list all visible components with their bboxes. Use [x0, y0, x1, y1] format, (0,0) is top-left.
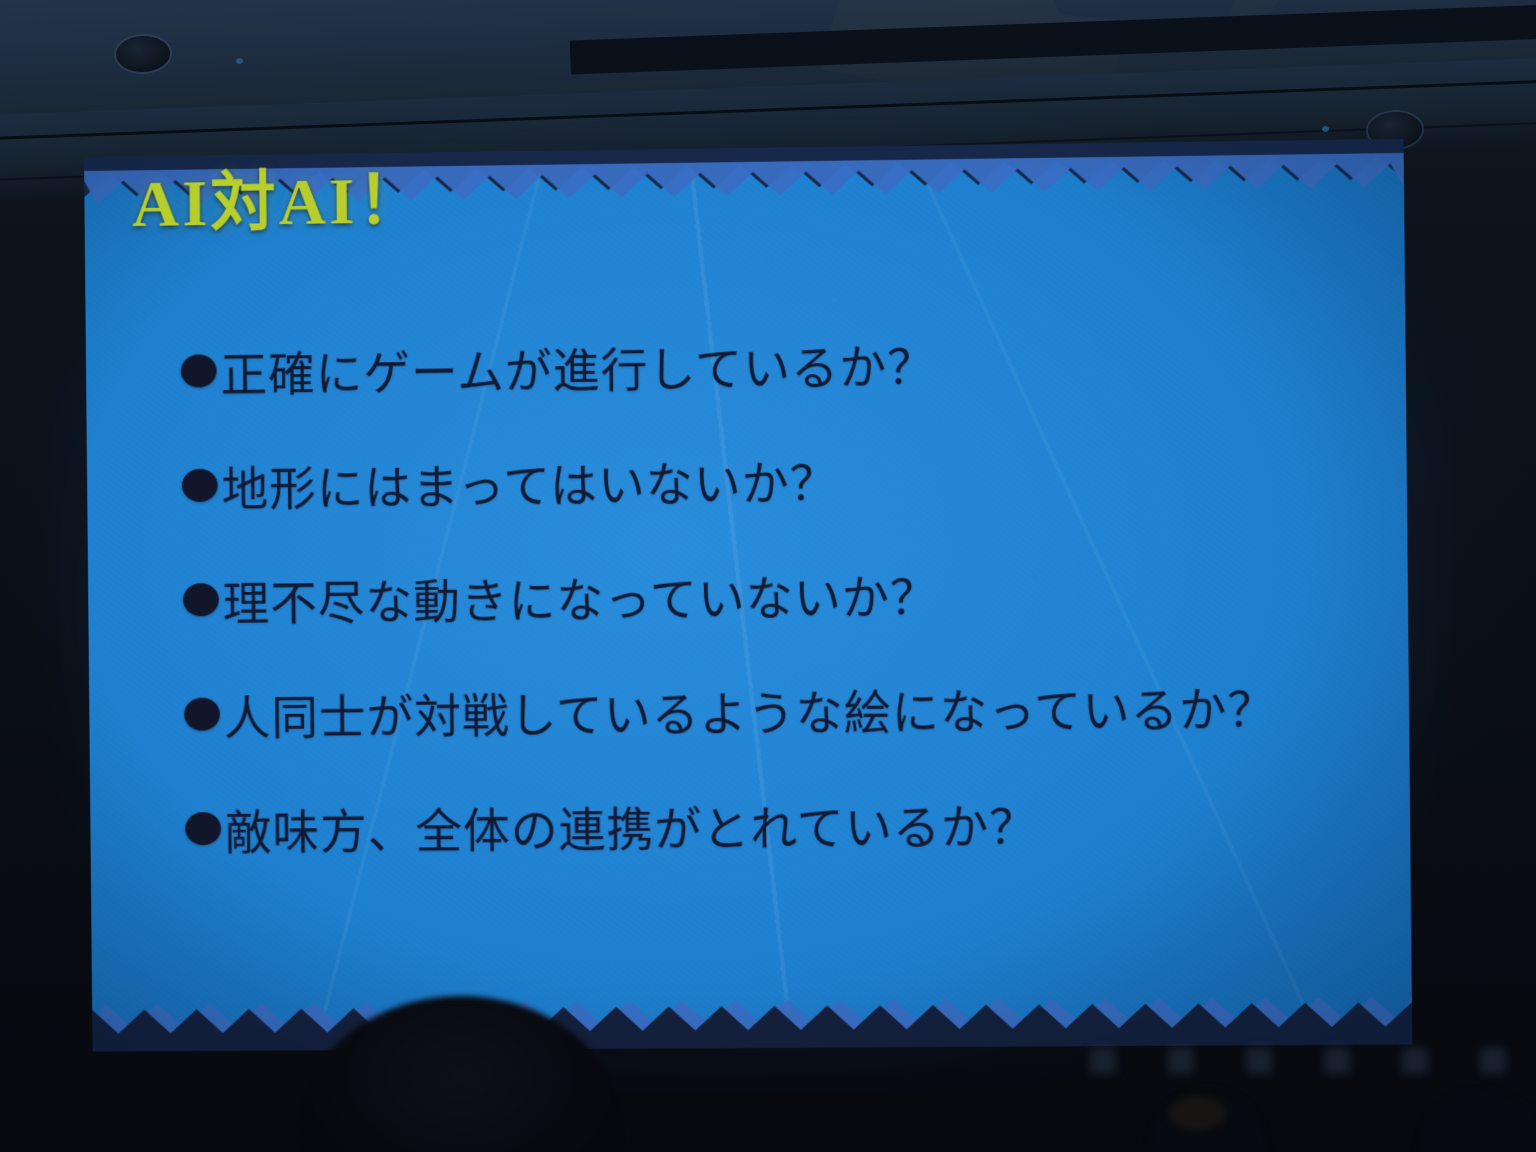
list-item: 理不尽な動きになっていないか？: [183, 554, 1368, 634]
list-item-label: 地形にはまってはいないか？: [221, 444, 838, 519]
ceiling-sensor-dot-icon: [1322, 126, 1329, 132]
list-item-label: 正確にゲームが進行しているか？: [220, 328, 935, 405]
bullet-dot-icon: [181, 354, 217, 387]
slide-canvas: AI対AI！ 正確にゲームが進行しているか？ 地形にはまってはいないか？ 理不尽…: [84, 139, 1412, 1052]
list-item-label: 理不尽な動きになっていないか？: [222, 558, 938, 634]
list-item-label: 人同士が対戦しているような絵になっているか？: [223, 670, 1276, 748]
audience-head-highlight: [1168, 1096, 1226, 1130]
bullet-dot-icon: [185, 812, 221, 845]
photo-frame: AI対AI！ 正確にゲームが進行しているか？ 地形にはまってはいないか？ 理不尽…: [0, 0, 1536, 1152]
ceiling-sensor-dot-icon: [236, 58, 243, 64]
background-light-streaks: [1090, 1048, 1530, 1074]
bullet-dot-icon: [182, 469, 218, 502]
projected-slide: AI対AI！ 正確にゲームが進行しているか？ 地形にはまってはいないか？ 理不尽…: [84, 139, 1412, 1052]
list-item-label: 敵味方、全体の連携がとれているか？: [225, 788, 1038, 863]
list-item: 敵味方、全体の連携がとれているか？: [185, 785, 1370, 863]
slide-title: AI対AI！: [131, 146, 426, 246]
list-item: 人同士が対戦しているような絵になっているか？: [184, 669, 1369, 748]
list-item: 地形にはまってはいないか？: [182, 438, 1367, 520]
list-item: 正確にゲームが進行しているか？: [181, 322, 1366, 405]
bullet-dot-icon: [184, 698, 220, 731]
bullet-dot-icon: [183, 583, 219, 616]
slide-bullet-list: 正確にゲームが進行しているか？ 地形にはまってはいないか？ 理不尽な動きになって…: [181, 322, 1371, 908]
